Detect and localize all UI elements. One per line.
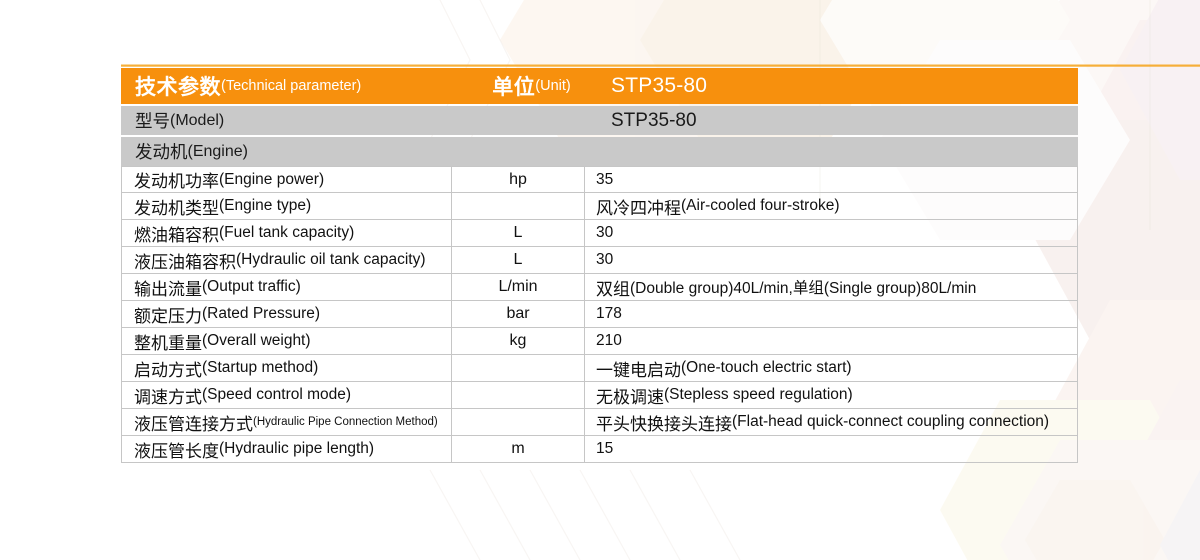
row-unit-cell: hp	[451, 166, 584, 193]
row-parameter-label-en: (Engine power)	[219, 171, 324, 189]
row-unit-text: bar	[506, 305, 529, 323]
row-parameter-cell: 整机重量(Overall weight)	[121, 328, 451, 355]
table-row: 液压管长度(Hydraulic pipe length)m15	[121, 436, 1078, 463]
row-value-cell: 风冷四冲程(Air-cooled four-stroke)	[584, 193, 1078, 220]
row-value-en: 30	[596, 224, 613, 242]
row-unit-text: kg	[510, 332, 527, 350]
row-unit-cell	[451, 193, 584, 220]
row-value-en: (One-touch electric start)	[681, 359, 852, 377]
row-value-en: (Air-cooled four-stroke)	[681, 197, 840, 215]
row-parameter-cell: 启动方式(Startup method)	[121, 355, 451, 382]
table-row: 输出流量(Output traffic)L/min双组(Double group…	[121, 274, 1078, 301]
row-parameter-cell: 燃油箱容积(Fuel tank capacity)	[121, 220, 451, 247]
row-value-en: 30	[596, 251, 613, 269]
row-unit-cell	[451, 355, 584, 382]
row-parameter-label-cn: 燃油箱容积	[134, 221, 219, 246]
row-parameter-cell: 发动机功率(Engine power)	[121, 166, 451, 193]
row-parameter-cell: 输出流量(Output traffic)	[121, 274, 451, 301]
row-parameter-label-cn: 液压管长度	[134, 437, 219, 462]
row-unit-cell: kg	[451, 328, 584, 355]
row-value-cell: 一键电启动(One-touch electric start)	[584, 355, 1078, 382]
row-value-cell: 178	[584, 301, 1078, 328]
table-row: 调速方式(Speed control mode)无极调速(Stepless sp…	[121, 382, 1078, 409]
row-unit-cell: L	[451, 220, 584, 247]
model-label-en: (Model)	[170, 112, 224, 130]
row-value-cell: 平头快换接头连接(Flat-head quick-connect couplin…	[584, 409, 1078, 436]
model-label-cn: 型号	[135, 108, 170, 133]
row-parameter-label-en: (Hydraulic Pipe Connection Method)	[253, 416, 438, 428]
table-row: 额定压力(Rated Pressure)bar178	[121, 301, 1078, 328]
row-parameter-label-cn: 整机重量	[134, 329, 202, 354]
row-unit-cell	[451, 409, 584, 436]
header-unit-label-en: (Unit)	[535, 78, 570, 94]
row-value-cell: 30	[584, 247, 1078, 274]
row-value-cell: 15	[584, 436, 1078, 463]
row-value-cn: 无极调速	[596, 383, 664, 408]
row-value-en: (Stepless speed regulation)	[664, 386, 853, 404]
header-model-label: STP35-80	[611, 74, 707, 98]
row-value-cn: 双组	[596, 275, 630, 300]
row-unit-cell: bar	[451, 301, 584, 328]
model-value: STP35-80	[611, 110, 697, 132]
header-parameter-label-cn: 技术参数	[135, 71, 221, 101]
row-value-en: 210	[596, 332, 622, 350]
row-parameter-label-cn: 发动机类型	[134, 194, 219, 219]
row-value-cn: 一键电启动	[596, 356, 681, 381]
row-parameter-label-en: (Startup method)	[202, 359, 318, 377]
row-parameter-label-en: (Hydraulic pipe length)	[219, 440, 374, 458]
header-unit-label-cn: 单位	[492, 71, 535, 101]
row-parameter-label-cn: 启动方式	[134, 356, 202, 381]
row-value-en: (Double group)40L/min,单组(Single group)80…	[630, 276, 976, 298]
engine-section-label-cell: 发动机 (Engine)	[121, 139, 1092, 164]
row-parameter-label-cn: 液压油箱容积	[134, 248, 236, 273]
row-parameter-label-en: (Hydraulic oil tank capacity)	[236, 251, 426, 269]
row-unit-text: L	[514, 251, 523, 269]
table-row: 液压油箱容积(Hydraulic oil tank capacity)L30	[121, 247, 1078, 274]
model-row: 型号 (Model) STP35-80	[121, 106, 1078, 135]
row-unit-cell	[451, 382, 584, 409]
table-row: 发动机类型(Engine type)风冷四冲程(Air-cooled four-…	[121, 193, 1078, 220]
engine-section-row: 发动机 (Engine)	[121, 137, 1078, 166]
row-parameter-label-cn: 发动机功率	[134, 167, 219, 192]
technical-parameter-table: 技术参数 (Technical parameter) 单位 (Unit) STP…	[121, 68, 1078, 463]
row-unit-text: hp	[509, 171, 527, 189]
table-row: 发动机功率(Engine power)hp35	[121, 166, 1078, 193]
row-unit-cell: m	[451, 436, 584, 463]
row-parameter-cell: 液压管长度(Hydraulic pipe length)	[121, 436, 451, 463]
header-parameter-cell: 技术参数 (Technical parameter)	[121, 68, 465, 104]
row-parameter-cell: 液压管连接方式(Hydraulic Pipe Connection Method…	[121, 409, 451, 436]
row-unit-text: m	[511, 440, 524, 458]
row-value-cell: 双组(Double group)40L/min,单组(Single group)…	[584, 274, 1078, 301]
row-value-cell: 35	[584, 166, 1078, 193]
row-value-cell: 30	[584, 220, 1078, 247]
row-parameter-label-cn: 额定压力	[134, 302, 202, 327]
row-parameter-label-cn: 调速方式	[134, 383, 202, 408]
table-row: 液压管连接方式(Hydraulic Pipe Connection Method…	[121, 409, 1078, 436]
row-parameter-label-en: (Fuel tank capacity)	[219, 224, 354, 242]
row-value-cn: 风冷四冲程	[596, 194, 681, 219]
header-model-cell: STP35-80	[598, 68, 1105, 104]
table-header-row: 技术参数 (Technical parameter) 单位 (Unit) STP…	[121, 68, 1078, 104]
row-parameter-label-en: (Speed control mode)	[202, 386, 351, 404]
row-unit-cell: L/min	[451, 274, 584, 301]
row-unit-text: L	[514, 224, 523, 242]
row-unit-cell: L	[451, 247, 584, 274]
row-parameter-label-cn: 输出流量	[134, 275, 202, 300]
row-value-cell: 无极调速(Stepless speed regulation)	[584, 382, 1078, 409]
row-value-en: (Flat-head quick-connect coupling connec…	[732, 413, 1049, 431]
model-value-cell: STP35-80	[598, 110, 1105, 132]
table-row: 燃油箱容积(Fuel tank capacity)L30	[121, 220, 1078, 247]
model-label-cell: 型号 (Model)	[121, 108, 598, 133]
row-parameter-cell: 发动机类型(Engine type)	[121, 193, 451, 220]
table-row: 整机重量(Overall weight)kg210	[121, 328, 1078, 355]
row-parameter-label-en: (Overall weight)	[202, 332, 311, 350]
row-value-cn: 平头快换接头连接	[596, 410, 732, 435]
header-parameter-label-en: (Technical parameter)	[221, 78, 361, 94]
row-parameter-cell: 调速方式(Speed control mode)	[121, 382, 451, 409]
table-row: 启动方式(Startup method)一键电启动(One-touch elec…	[121, 355, 1078, 382]
row-parameter-label-cn: 液压管连接方式	[134, 410, 253, 435]
row-parameter-label-en: (Output traffic)	[202, 278, 301, 296]
row-value-en: 35	[596, 171, 613, 189]
row-value-en: 15	[596, 440, 613, 458]
row-parameter-cell: 液压油箱容积(Hydraulic oil tank capacity)	[121, 247, 451, 274]
row-parameter-label-en: (Rated Pressure)	[202, 305, 320, 323]
engine-section-label-cn: 发动机	[135, 139, 188, 164]
header-unit-cell: 单位 (Unit)	[465, 68, 598, 104]
table-body: 发动机功率(Engine power)hp35发动机类型(Engine type…	[121, 166, 1078, 463]
row-parameter-cell: 额定压力(Rated Pressure)	[121, 301, 451, 328]
row-parameter-label-en: (Engine type)	[219, 197, 311, 215]
row-unit-text: L/min	[498, 278, 537, 296]
row-value-en: 178	[596, 305, 622, 323]
engine-section-label-en: (Engine)	[188, 143, 248, 161]
row-value-cell: 210	[584, 328, 1078, 355]
